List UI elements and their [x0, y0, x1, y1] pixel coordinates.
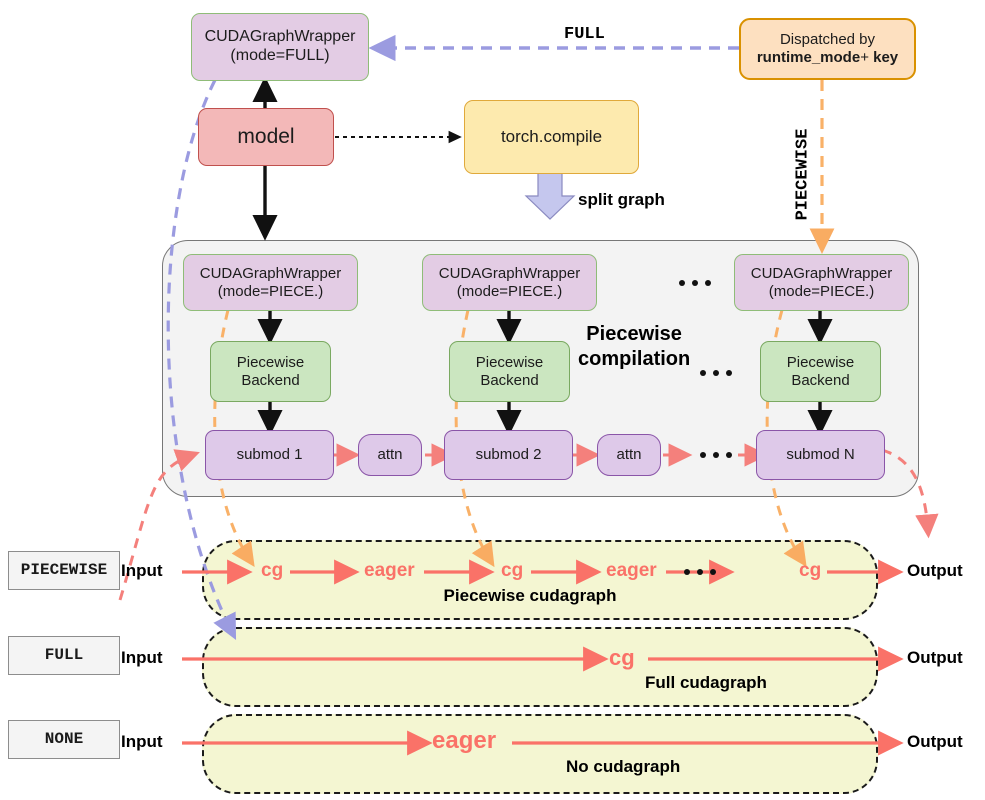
- backend-1-line1: Piecewise: [237, 354, 305, 372]
- backend-2-line2: Backend: [480, 372, 538, 390]
- submod-2-box[interactable]: submod 2: [444, 430, 573, 480]
- piecewise-backend-n[interactable]: Piecewise Backend: [760, 341, 881, 402]
- dispatcher-line2: runtime_mode+ key: [757, 49, 898, 67]
- step-piecewise-3: cg: [501, 560, 523, 582]
- backend-2-line1: Piecewise: [476, 354, 544, 372]
- dispatcher-line1: Dispatched by: [780, 31, 875, 49]
- ellipsis-backend-row: [700, 370, 732, 376]
- step-none-1: eager: [432, 727, 496, 755]
- model-label: model: [237, 125, 294, 150]
- wrapper-1-line2: (mode=PIECE.): [218, 283, 323, 301]
- attn-1-box[interactable]: attn: [358, 434, 422, 476]
- backend-1-line2: Backend: [241, 372, 299, 390]
- ellipsis-wrapper-row: [679, 280, 711, 286]
- cudagraph-row-piecewise-bg: [202, 540, 878, 620]
- wrapper-full-line2: (mode=FULL): [230, 47, 329, 66]
- wrapper-n-line1: CUDAGraphWrapper: [751, 265, 892, 283]
- output-label-piecewise: Output: [907, 561, 963, 581]
- wrapper-full-line1: CUDAGraphWrapper: [205, 28, 356, 47]
- cudagraph-row-full-bg: [202, 627, 878, 707]
- submod-1-label: submod 1: [237, 446, 303, 464]
- wrapper-1-line1: CUDAGraphWrapper: [200, 265, 341, 283]
- cudagraph-wrapper-piece-n[interactable]: CUDAGraphWrapper (mode=PIECE.): [734, 254, 909, 311]
- edge-label-full: FULL: [564, 25, 605, 44]
- mode-badge-full[interactable]: FULL: [8, 636, 120, 675]
- step-piecewise-2: eager: [364, 560, 415, 582]
- edge-label-piecewise: PIECEWISE: [794, 115, 813, 235]
- submod-n-label: submod N: [786, 446, 854, 464]
- region-title-line2: compilation: [578, 347, 690, 372]
- row-caption-piecewise: Piecewise cudagraph: [444, 586, 617, 606]
- cudagraph-wrapper-piece-1[interactable]: CUDAGraphWrapper (mode=PIECE.): [183, 254, 358, 311]
- attn-2-label: attn: [616, 446, 641, 464]
- dispatcher-key: key: [873, 49, 898, 66]
- input-label-full: Input: [121, 648, 163, 668]
- piecewise-backend-2[interactable]: Piecewise Backend: [449, 341, 570, 402]
- mode-badge-piecewise[interactable]: PIECEWISE: [8, 551, 120, 590]
- dispatcher-box[interactable]: Dispatched by runtime_mode+ key: [739, 18, 916, 80]
- attn-1-label: attn: [377, 446, 402, 464]
- input-label-piecewise: Input: [121, 561, 163, 581]
- step-piecewise-4: eager: [606, 560, 657, 582]
- mode-badge-piecewise-label: PIECEWISE: [21, 561, 107, 580]
- submod-1-box[interactable]: submod 1: [205, 430, 334, 480]
- cudagraph-wrapper-piece-2[interactable]: CUDAGraphWrapper (mode=PIECE.): [422, 254, 597, 311]
- model-box[interactable]: model: [198, 108, 334, 166]
- cudagraph-wrapper-full-box[interactable]: CUDAGraphWrapper (mode=FULL): [191, 13, 369, 81]
- wrapper-2-line2: (mode=PIECE.): [457, 283, 562, 301]
- submod-n-box[interactable]: submod N: [756, 430, 885, 480]
- split-graph-label: split graph: [578, 190, 665, 210]
- torch-compile-label: torch.compile: [501, 127, 602, 147]
- region-title: Piecewise compilation: [578, 322, 690, 372]
- cudagraph-row-none-bg: [202, 714, 878, 794]
- output-label-full: Output: [907, 648, 963, 668]
- wrapper-2-line1: CUDAGraphWrapper: [439, 265, 580, 283]
- ellipsis-submod-row: [700, 452, 732, 458]
- row-caption-none: No cudagraph: [566, 757, 680, 777]
- dispatcher-plus: +: [860, 49, 873, 66]
- input-label-none: Input: [121, 732, 163, 752]
- ellipsis-piecewise-row: [684, 569, 716, 575]
- region-title-line1: Piecewise: [578, 322, 690, 347]
- torch-compile-box[interactable]: torch.compile: [464, 100, 639, 174]
- row-caption-full: Full cudagraph: [645, 673, 767, 693]
- attn-2-box[interactable]: attn: [597, 434, 661, 476]
- piecewise-backend-1[interactable]: Piecewise Backend: [210, 341, 331, 402]
- diagram-canvas: CUDAGraphWrapper (mode=FULL) model torch…: [0, 0, 985, 800]
- step-piecewise-1: cg: [261, 560, 283, 582]
- dispatcher-runtime-mode: runtime_mode: [757, 49, 860, 66]
- submod-2-label: submod 2: [476, 446, 542, 464]
- output-label-none: Output: [907, 732, 963, 752]
- backend-n-line1: Piecewise: [787, 354, 855, 372]
- mode-badge-none-label: NONE: [45, 730, 83, 749]
- step-piecewise-5: cg: [799, 560, 821, 582]
- backend-n-line2: Backend: [791, 372, 849, 390]
- wrapper-n-line2: (mode=PIECE.): [769, 283, 874, 301]
- mode-badge-none[interactable]: NONE: [8, 720, 120, 759]
- step-full-1: cg: [609, 645, 635, 671]
- mode-badge-full-label: FULL: [45, 646, 83, 665]
